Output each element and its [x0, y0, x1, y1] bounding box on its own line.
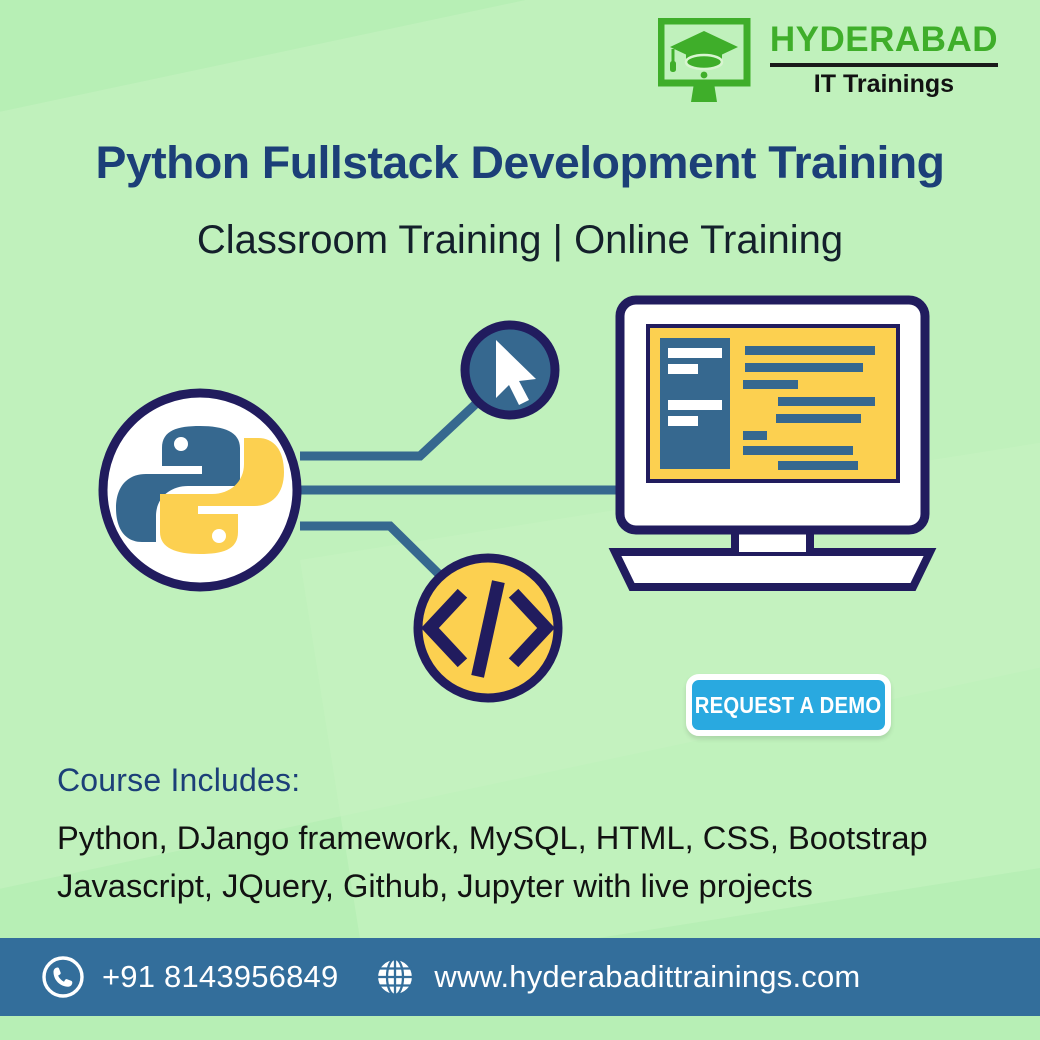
- brand-logo[interactable]: HYDERABAD IT Trainings: [658, 18, 998, 104]
- logo-divider: [770, 63, 998, 67]
- desktop-monitor-icon: [615, 300, 930, 587]
- request-a-demo-button[interactable]: REQUEST A DEMO: [686, 674, 891, 736]
- globe-icon: [372, 954, 418, 1000]
- website-url: www.hyderabadittrainings.com: [434, 959, 860, 995]
- phone-contact[interactable]: +91 8143956849: [40, 954, 338, 1000]
- logo-wordmark: HYDERABAD IT Trainings: [770, 18, 998, 97]
- mouse-cursor-badge: [465, 325, 555, 415]
- monitor-graduation-cap-icon: [658, 18, 756, 104]
- code-brackets-badge: [418, 558, 558, 698]
- python-logo-badge: [103, 393, 297, 587]
- hero-illustration: [0, 290, 1040, 710]
- logo-subtitle: IT Trainings: [770, 71, 998, 97]
- phone-icon: [40, 954, 86, 1000]
- website-contact[interactable]: www.hyderabadittrainings.com: [372, 954, 860, 1000]
- course-includes-heading: Course Includes:: [57, 762, 300, 799]
- course-includes-line-2: Javascript, JQuery, Github, Jupyter with…: [57, 868, 813, 905]
- request-a-demo-label: REQUEST A DEMO: [695, 692, 882, 719]
- poster-canvas: HYDERABAD IT Trainings Python Fullstack …: [0, 0, 1040, 1040]
- logo-title: HYDERABAD: [770, 22, 998, 57]
- course-includes-line-1: Python, DJango framework, MySQL, HTML, C…: [57, 820, 928, 857]
- page-title: Python Fullstack Development Training: [0, 137, 1040, 189]
- page-subtitle: Classroom Training | Online Training: [0, 218, 1040, 263]
- contact-footer-bar: +91 8143956849 www.hyderabadittrainings.…: [0, 938, 1040, 1016]
- phone-number: +91 8143956849: [102, 959, 338, 995]
